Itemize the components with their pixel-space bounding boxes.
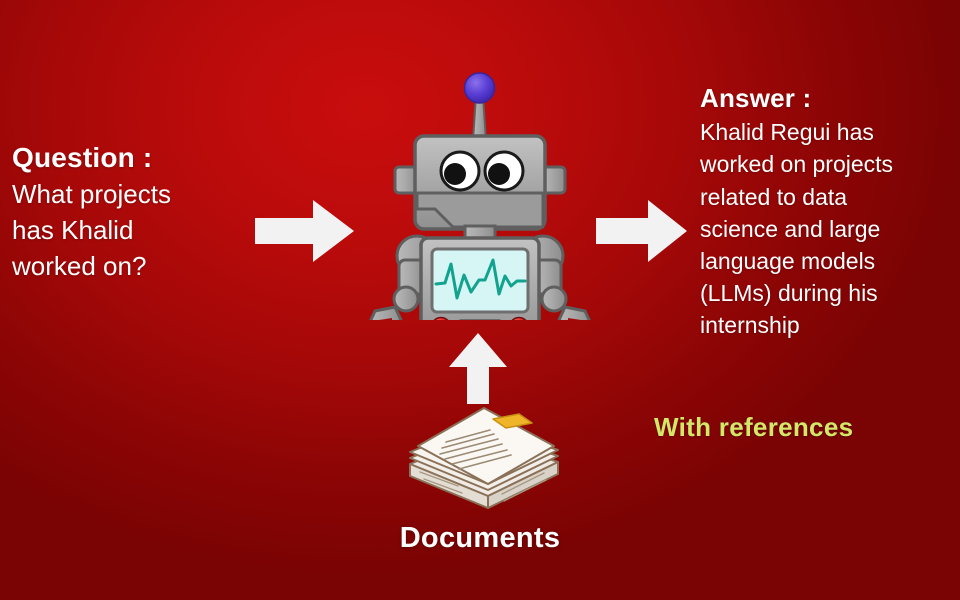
documents-stack-icon: [398, 400, 568, 520]
answer-line-6: (LLMs) during his: [700, 277, 956, 309]
question-line-2: has Khalid: [12, 213, 264, 249]
robot-torso: [421, 238, 539, 320]
answer-line-7: internship: [700, 309, 956, 341]
robot-head: [415, 136, 545, 229]
answer-block: Answer : Khalid Regui has worked on proj…: [700, 82, 956, 342]
answer-line-1: Khalid Regui has: [700, 116, 956, 148]
answer-heading: Answer :: [700, 82, 956, 114]
answer-line-2: worked on projects: [700, 148, 956, 180]
arrow-right-icon-robot-to-answer: [596, 198, 688, 269]
with-references-note: With references: [654, 412, 853, 443]
answer-line-4: science and large: [700, 213, 956, 245]
question-line-1: What projects: [12, 177, 264, 213]
answer-line-5: language models: [700, 245, 956, 277]
robot-eye-left: [441, 152, 479, 190]
robot-assistant: [365, 68, 595, 325]
answer-line-3: related to data: [700, 181, 956, 213]
robot-chest-screen: [432, 249, 528, 312]
arrow-up-icon-documents-to-robot: [448, 333, 508, 410]
question-block: Question : What projects has Khalid work…: [12, 140, 264, 285]
question-line-3: worked on?: [12, 249, 264, 285]
robot-eye-right: [485, 152, 523, 190]
arrow-right-icon-question-to-robot: [255, 198, 355, 269]
question-heading: Question :: [12, 140, 264, 175]
robot-arm-right: [535, 260, 591, 320]
robot-arm-left: [369, 260, 425, 320]
slide-canvas: Question : What projects has Khalid work…: [0, 0, 960, 600]
documents-label: Documents: [0, 522, 960, 555]
robot-antenna: [465, 73, 495, 140]
